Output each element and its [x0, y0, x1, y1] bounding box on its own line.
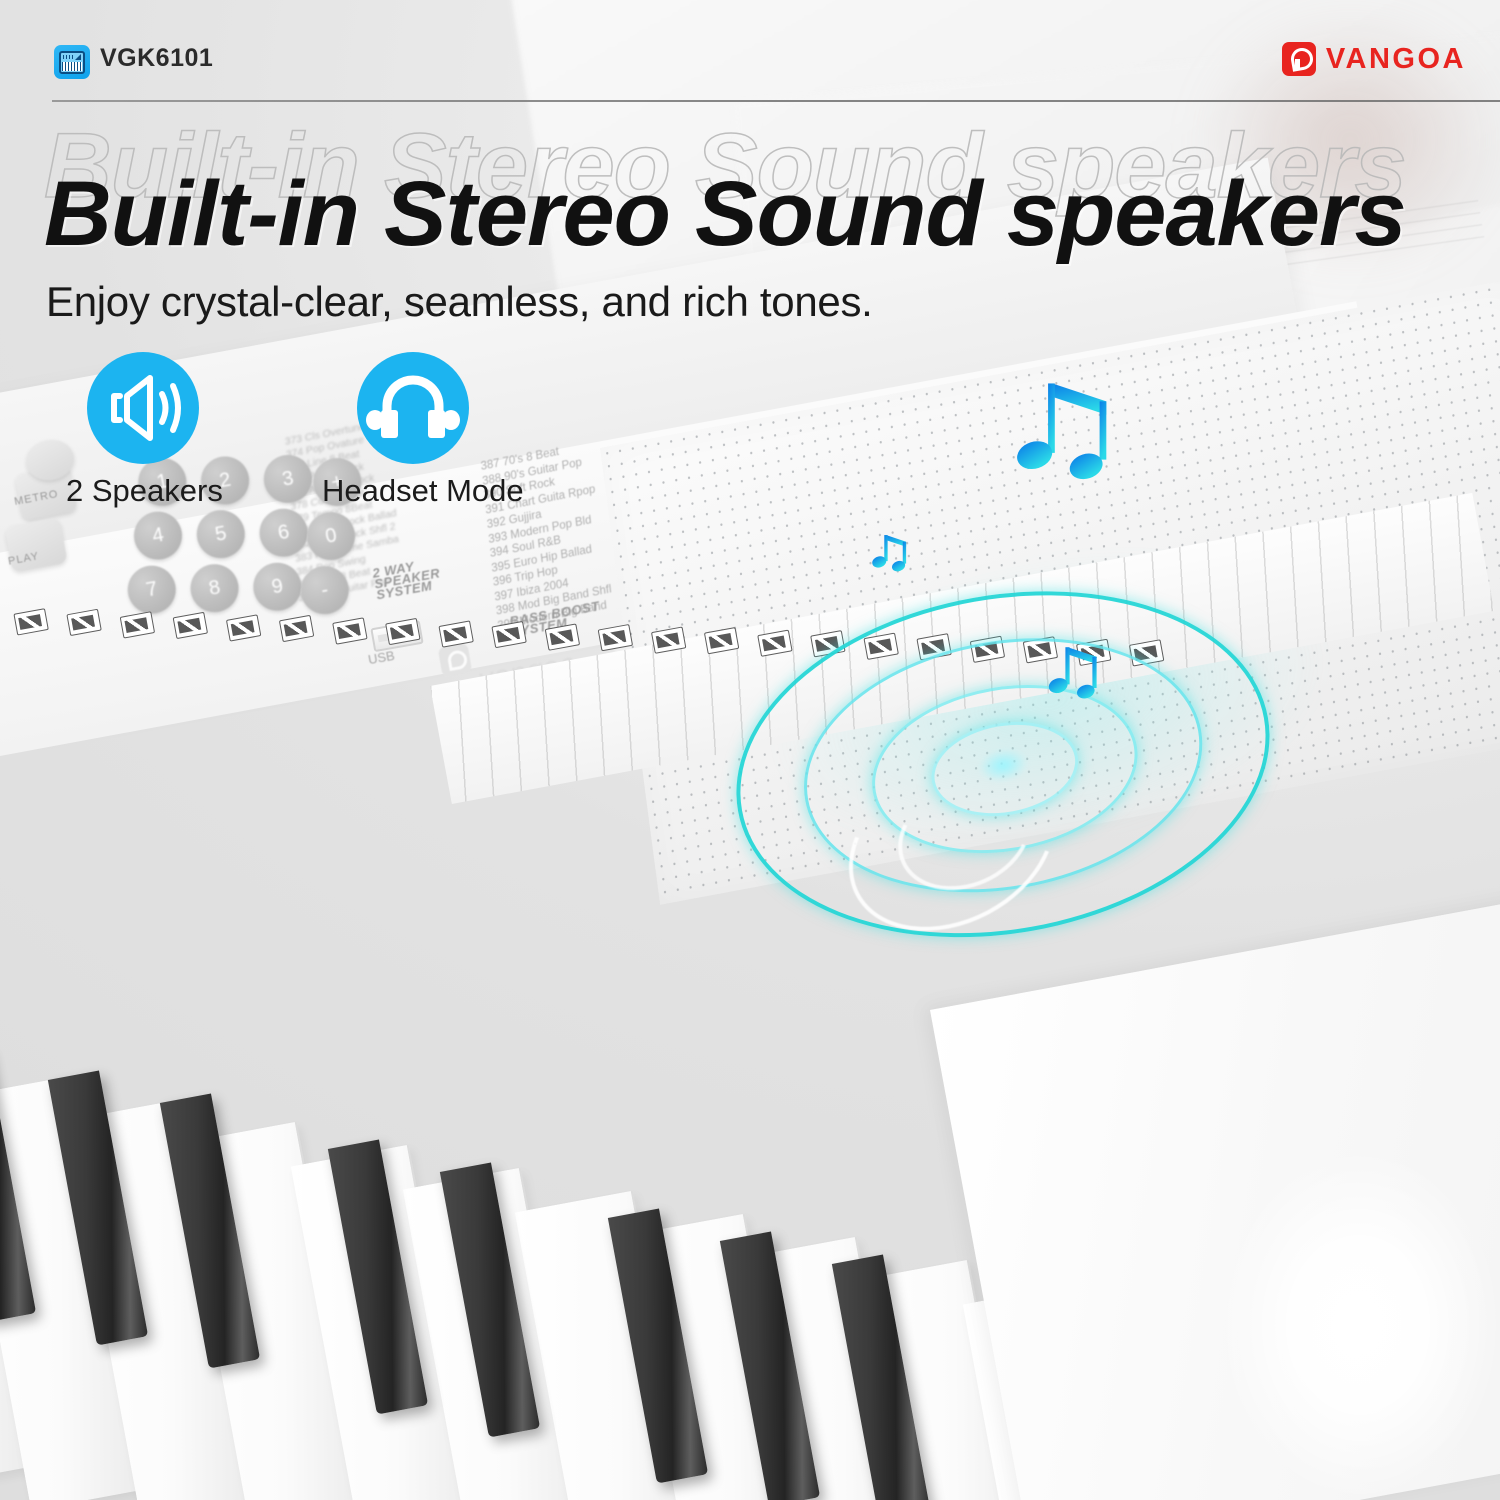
music-note-icon-small — [870, 530, 912, 572]
feature-label-speakers: 2 Speakers — [66, 473, 223, 509]
speaker-volume-icon — [87, 352, 199, 464]
keyboard-icon-keys — [62, 62, 82, 71]
product-keyboard-icon — [54, 45, 90, 79]
music-note-icon-large — [1010, 370, 1122, 482]
function-icon-sustain-c[interactable] — [13, 608, 48, 635]
header-divider — [52, 100, 1500, 102]
vangoa-brand-name: VANGOA — [1326, 43, 1466, 76]
keyboard-icon-speaker — [75, 54, 81, 60]
headphones-icon — [357, 352, 469, 464]
feature-badge-headset — [357, 352, 469, 464]
keyboard-icon-controls — [63, 55, 74, 59]
product-model-label: VGK6101 — [100, 44, 213, 73]
product-banner: 373 Cls Overtune 374 Pop Ovature 375 Lin… — [0, 0, 1500, 1500]
headline-block: Built-in Stereo Sound speakers Built-in … — [44, 148, 1474, 288]
vangoa-logo-icon — [1282, 42, 1316, 76]
feature-badge-speakers — [87, 352, 199, 464]
page-subtitle: Enjoy crystal-clear, seamless, and rich … — [46, 278, 873, 326]
vangoa-mark-on-device — [438, 643, 473, 678]
feature-label-headset: Headset Mode — [322, 473, 524, 509]
function-icon-sustain-o[interactable] — [66, 609, 101, 636]
page-title: Built-in Stereo Sound speakers — [44, 162, 1500, 267]
function-icon-memory-l[interactable] — [120, 611, 155, 638]
keyboard-icon-body — [59, 51, 85, 74]
brand-lockup: VANGOA — [1282, 42, 1466, 76]
music-note-icon-medium — [1045, 640, 1105, 700]
